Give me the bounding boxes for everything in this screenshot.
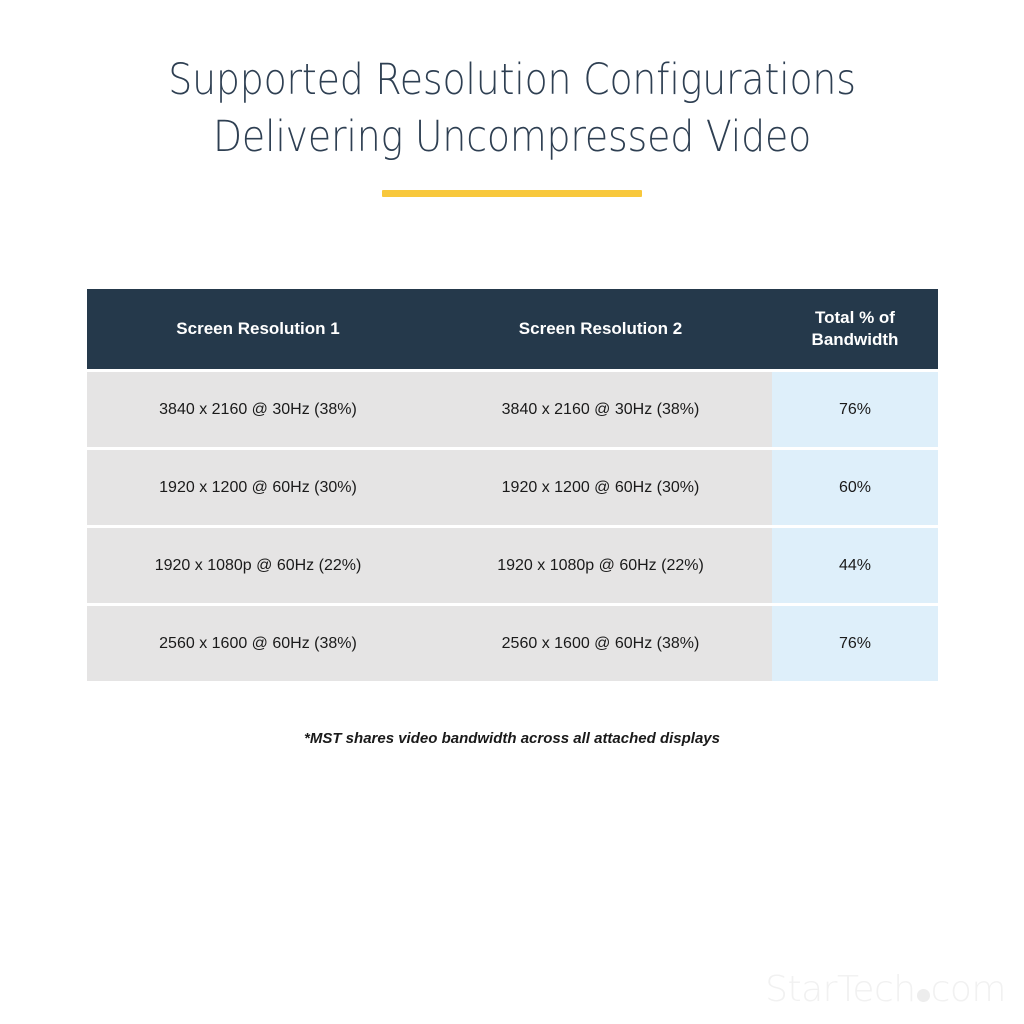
footnote-text: *MST shares video bandwidth across all a… (0, 730, 1024, 747)
table-row: 3840 x 2160 @ 30Hz (38%) 3840 x 2160 @ 3… (87, 372, 938, 447)
watermark-text-com: com (931, 969, 1006, 1010)
cell-resolution-2: 1920 x 1200 @ 60Hz (30%) (429, 450, 772, 525)
cell-resolution-1: 2560 x 1600 @ 60Hz (38%) (87, 606, 429, 681)
startech-watermark: StarTech com (765, 969, 1006, 1010)
title-underline-rule (382, 190, 642, 197)
cell-total-bandwidth: 44% (772, 528, 938, 603)
dot-icon (917, 989, 930, 1002)
resolution-table: Screen Resolution 1 Screen Resolution 2 … (87, 289, 938, 681)
column-header-screen-resolution-2: Screen Resolution 2 (429, 289, 772, 369)
cell-resolution-2: 2560 x 1600 @ 60Hz (38%) (429, 606, 772, 681)
table-header-row: Screen Resolution 1 Screen Resolution 2 … (87, 289, 938, 369)
table-row: 1920 x 1080p @ 60Hz (22%) 1920 x 1080p @… (87, 528, 938, 603)
column-header-screen-resolution-1: Screen Resolution 1 (87, 289, 429, 369)
table-row: 1920 x 1200 @ 60Hz (30%) 1920 x 1200 @ 6… (87, 450, 938, 525)
page-title-line-1: Supported Resolution Configurations (61, 52, 962, 109)
cell-total-bandwidth: 60% (772, 450, 938, 525)
page-title: Supported Resolution Configurations Deli… (0, 52, 1024, 197)
column-header-total-bandwidth: Total % of Bandwidth (772, 289, 938, 369)
cell-resolution-1: 3840 x 2160 @ 30Hz (38%) (87, 372, 429, 447)
table-row: 2560 x 1600 @ 60Hz (38%) 2560 x 1600 @ 6… (87, 606, 938, 681)
watermark-text-startech: StarTech (765, 969, 915, 1010)
cell-total-bandwidth: 76% (772, 372, 938, 447)
cell-total-bandwidth: 76% (772, 606, 938, 681)
cell-resolution-1: 1920 x 1080p @ 60Hz (22%) (87, 528, 429, 603)
page-title-line-2: Delivering Uncompressed Video (61, 109, 962, 166)
cell-resolution-2: 1920 x 1080p @ 60Hz (22%) (429, 528, 772, 603)
cell-resolution-1: 1920 x 1200 @ 60Hz (30%) (87, 450, 429, 525)
cell-resolution-2: 3840 x 2160 @ 30Hz (38%) (429, 372, 772, 447)
